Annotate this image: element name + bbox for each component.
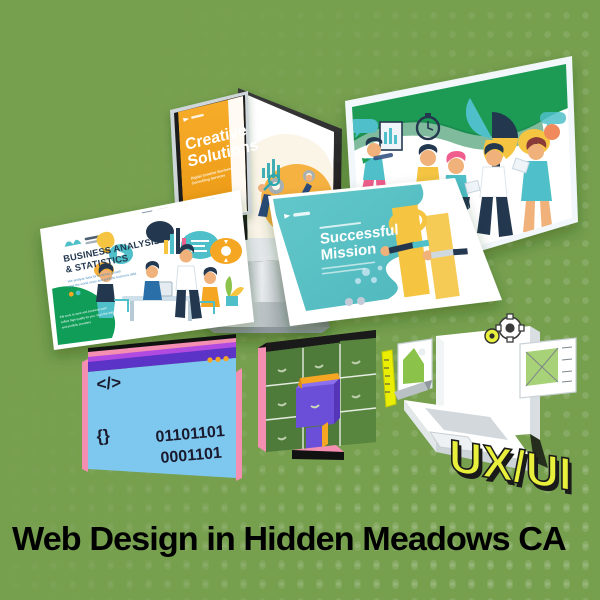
icon-ux-ui-laptop: UX/UI UX/UI (382, 314, 576, 505)
ux-ui-lettering-face: UX/UI (449, 429, 572, 500)
hero-graphic-stage: $ (0, 0, 600, 600)
page-title: Web Design in Hidden Meadows CA (12, 521, 566, 559)
code-brace-glyph: {} (96, 426, 111, 446)
device-mockup-scene: $ (0, 0, 600, 600)
icon-code-window: </> {} 01101101 0001101 (82, 334, 242, 481)
code-tag-glyph: </> (96, 373, 122, 394)
ux-ui-lettering: UX/UI UX/UI (449, 429, 575, 505)
icon-file-cabinet (258, 330, 376, 460)
